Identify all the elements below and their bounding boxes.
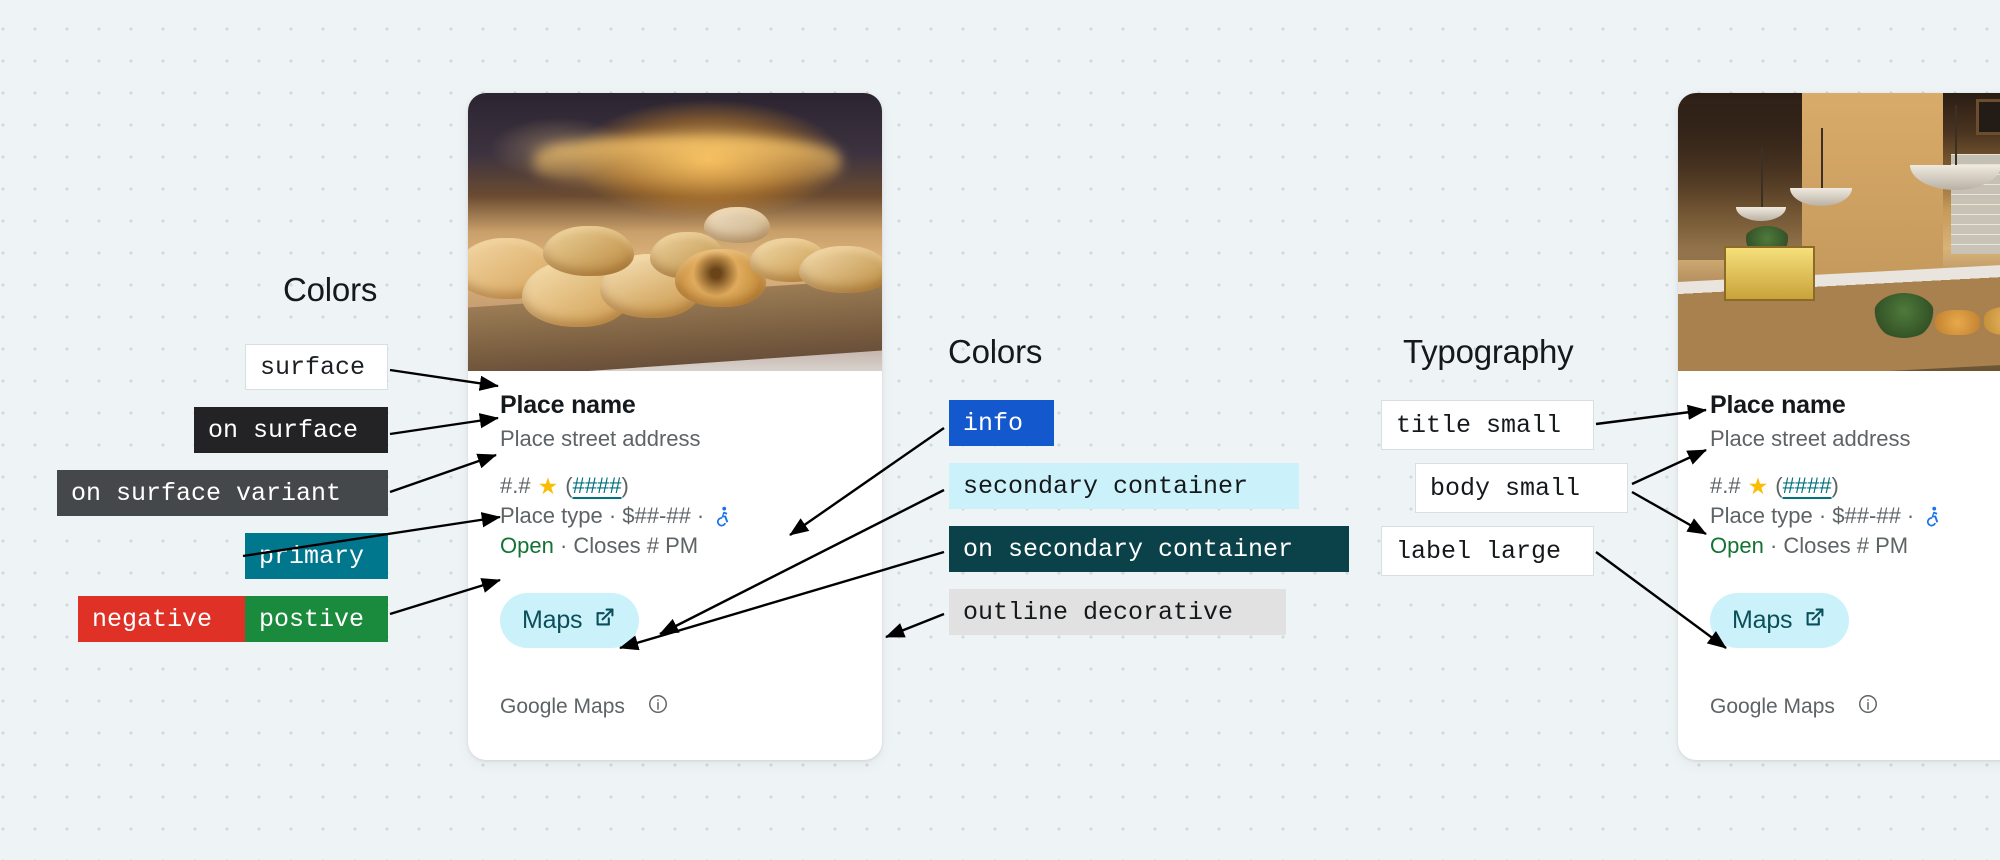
section-heading-colors-middle: Colors [948, 333, 1042, 371]
section-heading-typography: Typography [1403, 333, 1573, 371]
place-type: Place type [1710, 503, 1813, 529]
color-token-on-surface: on surface [194, 407, 388, 453]
typography-token-label-large: label large [1381, 526, 1594, 576]
maps-button[interactable]: Maps [500, 593, 639, 648]
place-address: Place street address [1710, 426, 2000, 452]
place-hours-row: Open · Closes # PM [500, 533, 850, 559]
review-close-paren: ) [622, 473, 629, 499]
meta-separator-1: · [1813, 503, 1833, 529]
status-open: Open [1710, 533, 1764, 558]
color-token-info: info [949, 400, 1054, 446]
rating-value: #.# [500, 473, 531, 499]
review-close-paren: ) [1832, 473, 1839, 499]
place-name: Place name [500, 391, 850, 420]
color-token-secondary-container: secondary container [949, 463, 1299, 509]
maps-button-label: Maps [1732, 606, 1792, 635]
place-hours-row: Open · Closes # PM [1710, 533, 2000, 559]
rating-row: #.# ★ ( #### ) [500, 473, 850, 499]
review-count-link[interactable]: #### [1783, 473, 1832, 499]
color-token-on-secondary-container: on secondary container [949, 526, 1349, 572]
review-open-paren: ( [1775, 473, 1782, 499]
place-address: Place street address [500, 426, 850, 452]
typography-token-title-small: title small [1381, 400, 1594, 450]
status-open: Open [500, 533, 554, 558]
place-type: Place type [500, 503, 603, 529]
place-meta-row: Place type · $##-## · [1710, 503, 2000, 529]
meta-separator-2: · [691, 503, 704, 529]
star-icon: ★ [538, 475, 559, 498]
footer-attribution: Google Maps [500, 695, 625, 719]
rating-value: #.# [1710, 473, 1741, 499]
price-range: $##-## [1832, 503, 1901, 529]
meta-separator-2: · [1901, 503, 1914, 529]
closing-time: Closes # PM [573, 533, 698, 558]
info-circle-icon[interactable] [1857, 693, 1879, 721]
footer-attribution: Google Maps [1710, 695, 1835, 719]
annotation-canvas: Colors Colors Typography surface on surf… [0, 0, 2000, 860]
maps-button[interactable]: Maps [1710, 593, 1849, 648]
price-range: $##-## [622, 503, 691, 529]
place-card-left: Place name Place street address #.# ★ ( … [468, 93, 882, 760]
review-count-link[interactable]: #### [573, 473, 622, 499]
hours-separator: · [554, 533, 574, 558]
color-token-positive: postive [245, 596, 388, 642]
place-meta-row: Place type · $##-## · [500, 503, 850, 529]
card-footer: Google Maps [1710, 693, 2000, 721]
closing-time: Closes # PM [1783, 533, 1908, 558]
rating-row: #.# ★ ( #### ) [1710, 473, 2000, 499]
place-name: Place name [1710, 391, 2000, 420]
color-token-on-surface-variant: on surface variant [57, 470, 388, 516]
open-in-new-icon [593, 605, 617, 636]
wheelchair-accessible-icon [1923, 505, 1943, 527]
arrow-outline-decorative-to-card-border [886, 614, 944, 637]
meta-separator-1: · [603, 503, 623, 529]
typography-token-body-small: body small [1415, 463, 1628, 513]
hours-separator: · [1764, 533, 1784, 558]
place-card-body-left: Place name Place street address #.# ★ ( … [468, 371, 882, 721]
wheelchair-accessible-icon [713, 505, 733, 527]
star-icon: ★ [1748, 475, 1769, 498]
place-card-right: Place name Place street address #.# ★ ( … [1678, 93, 2000, 760]
card-footer: Google Maps [500, 693, 850, 721]
cafe-photo [1678, 93, 2000, 371]
color-token-negative: negative [78, 596, 245, 642]
bakery-photo [468, 93, 882, 371]
section-heading-colors-left: Colors [283, 271, 377, 309]
color-token-outline-decorative: outline decorative [949, 589, 1286, 635]
review-open-paren: ( [565, 473, 572, 499]
place-card-body-right: Place name Place street address #.# ★ ( … [1678, 371, 2000, 721]
info-circle-icon[interactable] [647, 693, 669, 721]
color-token-surface: surface [245, 344, 388, 390]
color-token-primary: primary [245, 533, 388, 579]
open-in-new-icon [1803, 605, 1827, 636]
maps-button-label: Maps [522, 606, 582, 635]
